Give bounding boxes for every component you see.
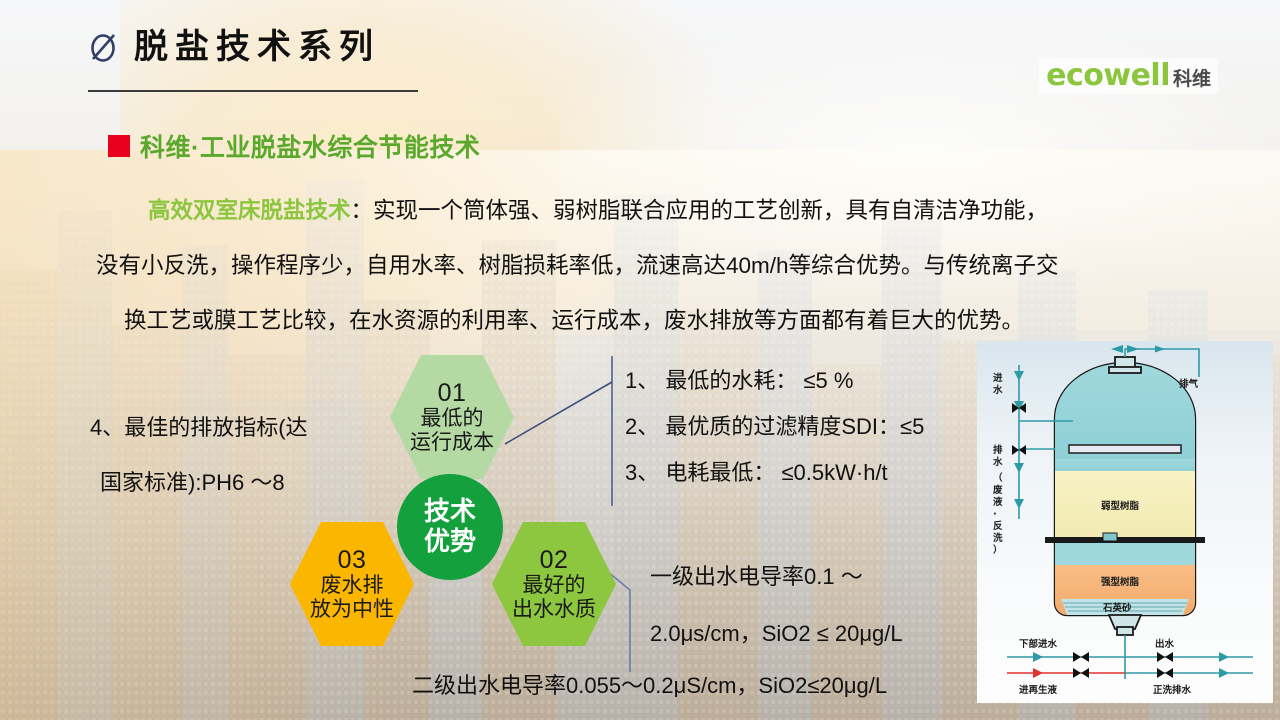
brand-logo: ecowell 科维 [1039, 58, 1218, 94]
center-badge-line2: 优势 [424, 527, 476, 557]
paragraph-line-3: 换工艺或膜工艺比较，在水资源的利用率、运行成本，废水排放等方面都有着巨大的优势。 [96, 293, 1256, 348]
svg-text:（: （ [993, 472, 1003, 484]
paragraph-lead-phrase: 高效双室床脱盐技术 [148, 198, 351, 223]
hexagon-01-caption-line1: 最低的 [421, 407, 484, 431]
discharge-index-line1: 4、最佳的排放指标(达 [90, 400, 308, 455]
svg-text:废: 废 [993, 484, 1003, 496]
hexagon-03-caption-line2: 放为中性 [310, 598, 394, 622]
svg-text:反: 反 [993, 520, 1003, 532]
label-vent: 排气 [1179, 378, 1199, 390]
primary-effluent-line1: 一级出水电导率0.1 ～ [650, 548, 903, 605]
advantage-bullet-list: 1、 最低的水耗： ≤5 % 2、 最优质的过滤精度SDI：≤5 3、 电耗最低… [625, 358, 924, 496]
slide-canvas: 脱盐技术系列 ecowell 科维 科维·工业脱盐水综合节能技术 高效双室床脱盐… [0, 0, 1280, 720]
bullet-item-3: 3、 电耗最低： ≤0.5kW·h/t [625, 450, 924, 496]
label-regenerant-in: 进再生液 [1019, 684, 1058, 696]
dual-chamber-vessel-diagram: 排气 进 水 排 水 （ [977, 341, 1273, 703]
label-rinse-drain: 正洗排水 [1153, 684, 1192, 696]
hexagon-03-number: 03 [338, 546, 367, 574]
svg-text:洗: 洗 [993, 532, 1003, 544]
slashed-circle-icon [88, 31, 118, 63]
label-weak-resin: 弱型树脂 [1101, 500, 1140, 512]
paragraph-line-1: 高效双室床脱盐技术：实现一个筒体强、弱树脂联合应用的工艺创新，具有自清洁净功能， [96, 183, 1256, 238]
discharge-index-line2: 国家标准):PH6 ～8 [90, 455, 308, 510]
paragraph-line-2: 没有小反洗，操作程序少，自用水率、树脂损耗率低，流速高达40m/h等综合优势。与… [96, 238, 1256, 293]
label-drain-1: 排 [993, 444, 1003, 456]
discharge-index-note: 4、最佳的排放指标(达 国家标准):PH6 ～8 [90, 400, 308, 510]
hexagon-02-number: 02 [540, 546, 569, 574]
label-inlet-top: 进 [993, 372, 1003, 384]
center-badge-line1: 技术 [424, 497, 476, 527]
center-badge-technology-advantage[interactable]: 技术 优势 [397, 474, 503, 580]
svg-text:水: 水 [993, 384, 1003, 396]
title-underline [88, 90, 418, 92]
bullet-item-2: 2、 最优质的过滤精度SDI：≤5 [625, 404, 924, 450]
body-paragraph: 高效双室床脱盐技术：实现一个筒体强、弱树脂联合应用的工艺创新，具有自清洁净功能，… [96, 183, 1256, 348]
hexagon-01-number: 01 [438, 379, 467, 407]
vessel-schematic-svg: 排气 进 水 排 水 （ [977, 341, 1273, 703]
subtitle-text: 科维·工业脱盐水综合节能技术 [140, 128, 480, 164]
hexagon-02-caption-line1: 最好的 [523, 574, 586, 598]
label-quartz-sand: 石英砂 [1102, 602, 1132, 614]
svg-text:）: ） [993, 544, 1003, 556]
slide-header: 脱盐技术系列 [88, 30, 380, 64]
red-square-bullet-icon [108, 135, 130, 157]
paragraph-line-1-text: ：实现一个筒体强、弱树脂联合应用的工艺创新，具有自清洁净功能， [351, 198, 1049, 223]
label-strong-resin: 强型树脂 [1101, 576, 1140, 588]
vessel-shell [1045, 357, 1205, 635]
svg-text:液: 液 [993, 496, 1003, 508]
section-subtitle: 科维·工业脱盐水综合节能技术 [108, 128, 480, 164]
hexagon-01-caption-line2: 运行成本 [410, 431, 494, 455]
bullet-item-1: 1、 最低的水耗： ≤5 % [625, 358, 924, 404]
logo-chinese-text: 科维 [1173, 70, 1211, 89]
page-title: 脱盐技术系列 [134, 30, 380, 64]
secondary-effluent-note: 二级出水电导率0.055～0.2μS/cm，SiO2≤20μg/L [412, 668, 887, 700]
label-outlet: 出水 [1155, 638, 1175, 650]
label-bottom-inlet: 下部进水 [1019, 638, 1058, 650]
svg-text:·: · [993, 509, 997, 520]
primary-effluent-note: 一级出水电导率0.1 ～ 2.0μs/cm，SiO2 ≤ 20μg/L [650, 548, 903, 662]
hexagon-03-caption-line1: 废水排 [321, 574, 384, 598]
svg-text:水: 水 [993, 456, 1003, 468]
primary-effluent-line2: 2.0μs/cm，SiO2 ≤ 20μg/L [650, 605, 903, 662]
hexagon-02-caption-line2: 出水水质 [512, 598, 596, 622]
logo-latin-text: ecowell [1046, 61, 1170, 91]
